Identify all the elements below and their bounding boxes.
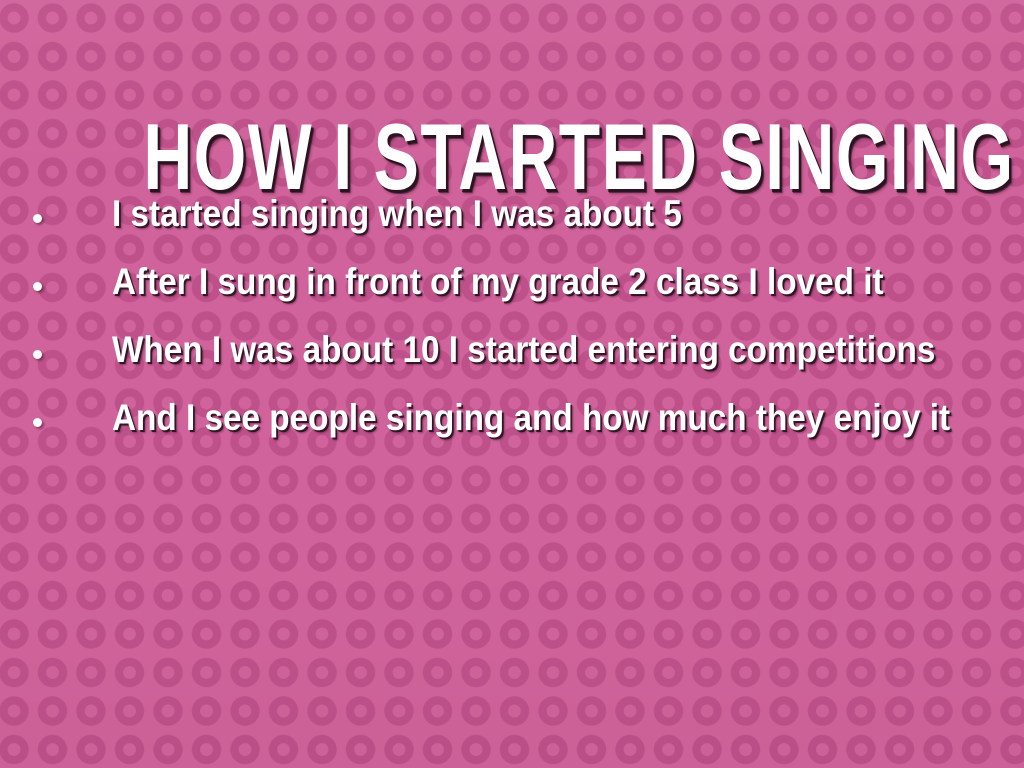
list-item: When I was about 10 I started entering c…	[0, 328, 1024, 396]
bullet-dot-icon	[33, 214, 42, 223]
bullet-dot-icon	[33, 350, 42, 359]
bullet-text: After I sung in front of my grade 2 clas…	[112, 260, 884, 304]
presentation-slide: HOW I STARTED SINGING I started singing …	[0, 0, 1024, 768]
bullet-dot-icon	[33, 418, 42, 427]
bullet-text: When I was about 10 I started entering c…	[112, 328, 935, 372]
list-item: I started singing when I was about 5	[0, 192, 1024, 260]
list-item: And I see people singing and how much th…	[0, 396, 1024, 464]
bullet-text: I started singing when I was about 5	[112, 192, 682, 236]
bullet-dot-icon	[33, 282, 42, 291]
slide-content: HOW I STARTED SINGING I started singing …	[0, 0, 1024, 768]
bullet-list: I started singing when I was about 5 Aft…	[0, 192, 1024, 464]
slide-title: HOW I STARTED SINGING	[143, 109, 880, 205]
bullet-text: And I see people singing and how much th…	[112, 396, 950, 440]
list-item: After I sung in front of my grade 2 clas…	[0, 260, 1024, 328]
